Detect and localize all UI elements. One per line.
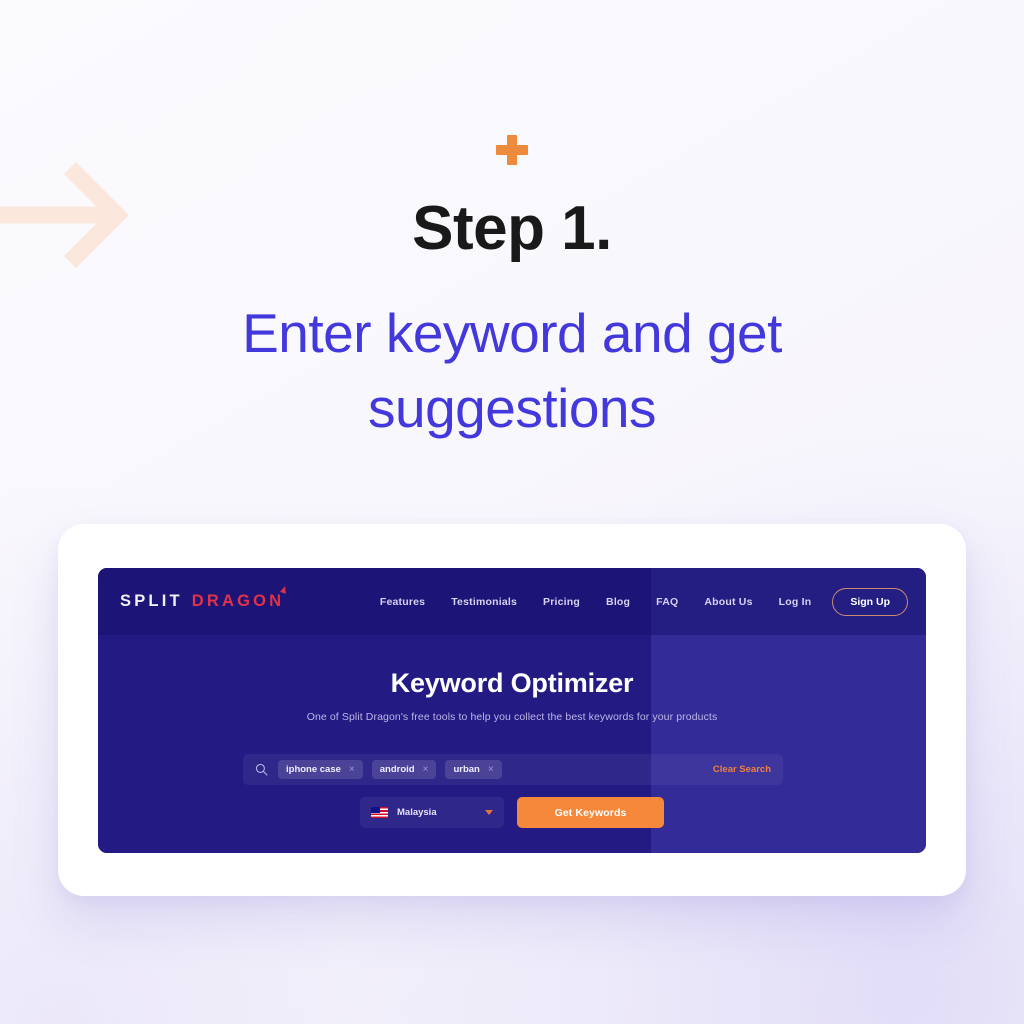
- keyword-chip-label: urban: [453, 764, 479, 775]
- plus-icon: [490, 133, 534, 167]
- logo-accent-icon: [280, 585, 288, 594]
- country-select[interactable]: Malaysia: [360, 797, 504, 828]
- nav-item-log-in[interactable]: Log In: [766, 596, 825, 608]
- keyword-chip-list: iphone case × android × urban ×: [278, 760, 502, 779]
- nav-item-features[interactable]: Features: [367, 596, 438, 608]
- search-icon: [255, 763, 268, 776]
- keyword-chip[interactable]: android ×: [372, 760, 437, 779]
- step-description: Enter keyword and get suggestions: [112, 296, 912, 446]
- chevron-down-icon[interactable]: [485, 810, 493, 815]
- nav-item-testimonials[interactable]: Testimonials: [438, 596, 530, 608]
- malaysia-flag-icon: [371, 807, 388, 818]
- country-select-value: Malaysia: [397, 807, 437, 818]
- logo-text-primary: SPLIT: [120, 592, 183, 611]
- sign-up-button[interactable]: Sign Up: [832, 588, 908, 616]
- step-title: Step 1.: [0, 198, 1024, 260]
- nav-item-pricing[interactable]: Pricing: [530, 596, 593, 608]
- clear-search-link[interactable]: Clear Search: [713, 764, 771, 775]
- nav-item-faq[interactable]: FAQ: [643, 596, 691, 608]
- nav-item-about-us[interactable]: About Us: [691, 596, 765, 608]
- brand-logo[interactable]: SPLIT DRAGON: [120, 592, 284, 611]
- keyword-search-bar[interactable]: iphone case × android × urban × Clear Se…: [243, 754, 783, 785]
- keyword-chip[interactable]: urban ×: [445, 760, 501, 779]
- hero-subtitle: One of Split Dragon's free tools to help…: [98, 711, 926, 723]
- hero-title: Keyword Optimizer: [98, 668, 926, 699]
- close-icon[interactable]: ×: [423, 765, 429, 775]
- keyword-chip-label: android: [380, 764, 415, 775]
- app-navbar: SPLIT DRAGON Features Testimonials Prici…: [98, 568, 926, 635]
- keyword-chip-label: iphone case: [286, 764, 341, 775]
- nav-links: Features Testimonials Pricing Blog FAQ A…: [367, 588, 926, 616]
- keyword-chip[interactable]: iphone case ×: [278, 760, 363, 779]
- nav-item-blog[interactable]: Blog: [593, 596, 643, 608]
- get-keywords-button[interactable]: Get Keywords: [517, 797, 664, 828]
- logo-text-secondary: DRAGON: [192, 592, 285, 611]
- page-root: Step 1. Enter keyword and get suggestion…: [0, 0, 1024, 1024]
- close-icon[interactable]: ×: [488, 765, 494, 775]
- close-icon[interactable]: ×: [349, 765, 355, 775]
- logo-text-secondary-label: DRAGON: [192, 592, 285, 610]
- app-screenshot: SPLIT DRAGON Features Testimonials Prici…: [98, 568, 926, 853]
